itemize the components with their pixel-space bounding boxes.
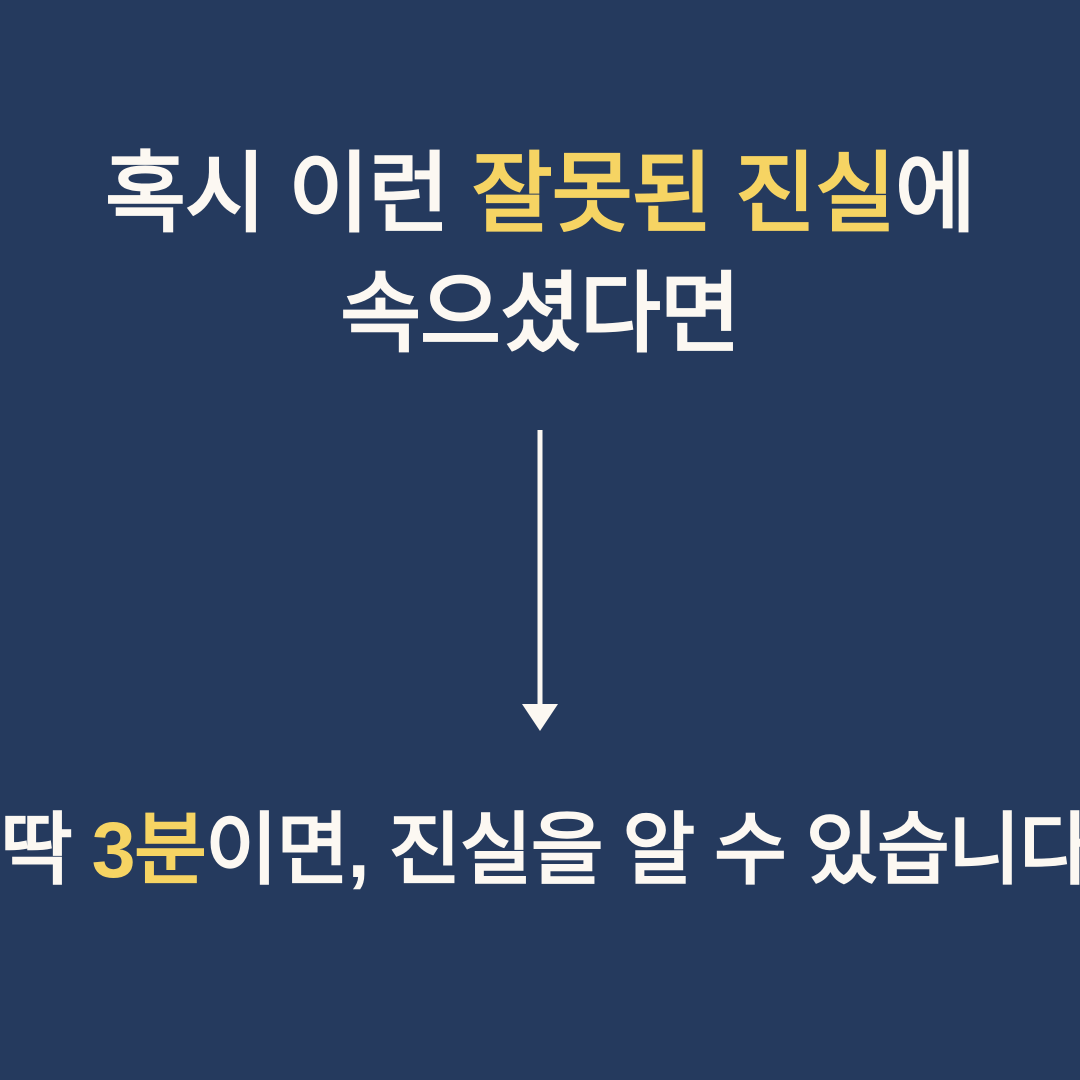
arrow-down-icon bbox=[520, 430, 560, 732]
headline-line-2-text: 속으셨다면 bbox=[340, 264, 740, 363]
headline-line-1-highlight: 잘못된 진실 bbox=[472, 144, 895, 243]
callout-part-1: 딱 bbox=[0, 805, 92, 894]
promo-card: 혹시 이런 잘못된 진실에 속으셨다면 딱 3분이면, 진실을 알 수 있습니다… bbox=[0, 0, 1080, 1080]
callout-highlight-minutes: 3분 bbox=[92, 805, 206, 894]
callout-block: 딱 3분이면, 진실을 알 수 있습니다. bbox=[0, 800, 1080, 900]
arrow-down-container bbox=[0, 430, 1080, 734]
headline-line-1-part-3: 에 bbox=[895, 144, 975, 243]
headline-line-2: 속으셨다면 bbox=[0, 255, 1080, 373]
headline-line-1-part-1: 혹시 이런 bbox=[105, 144, 472, 243]
headline-line-1: 혹시 이런 잘못된 진실에 bbox=[0, 135, 1080, 253]
callout-part-3: 이면, 진실을 알 수 있습니다. bbox=[205, 805, 1080, 894]
callout-line: 딱 3분이면, 진실을 알 수 있습니다. bbox=[0, 800, 1080, 900]
headline-block: 혹시 이런 잘못된 진실에 속으셨다면 bbox=[0, 135, 1080, 373]
